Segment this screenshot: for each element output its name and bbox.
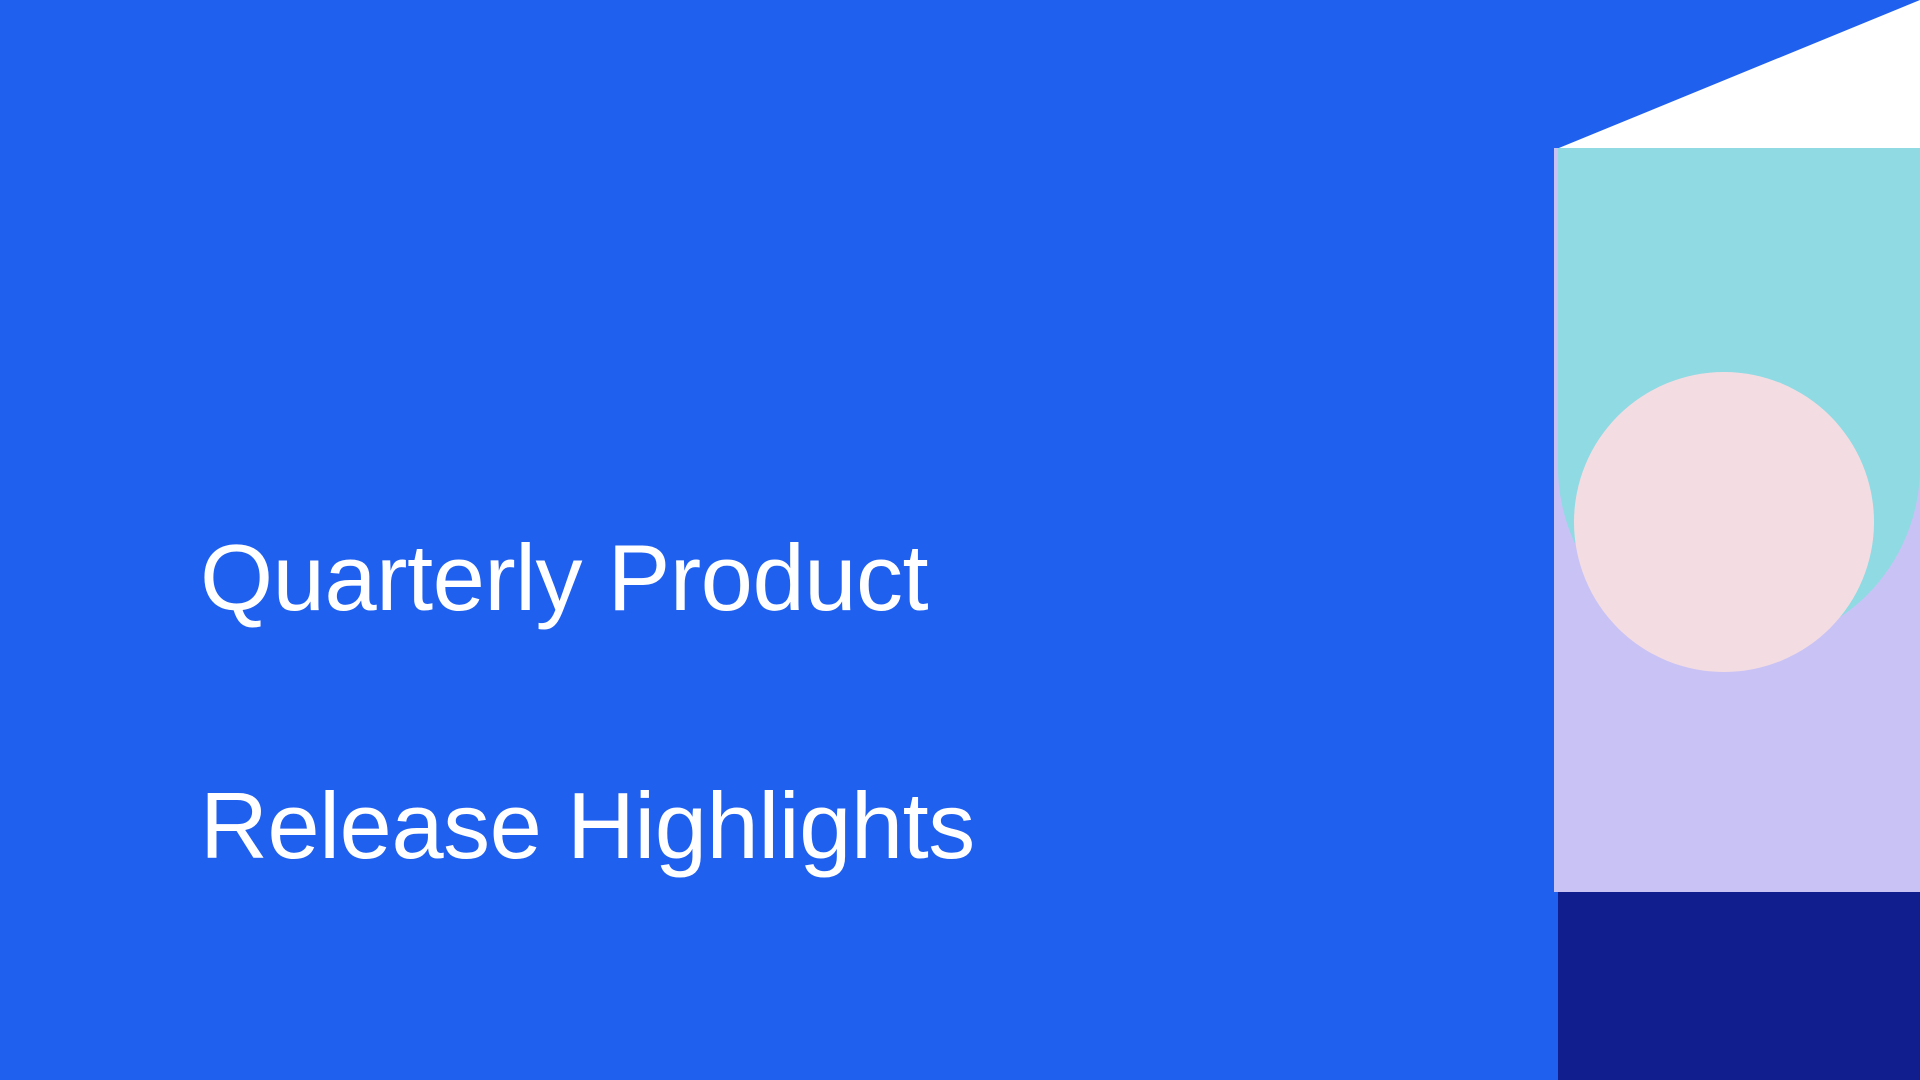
navy-block-shape <box>1558 892 1920 1080</box>
headline-line-2: Release Highlights <box>200 764 1100 888</box>
title-slide: Quarterly Product Release Highlights <box>0 0 1920 1080</box>
decorative-shape-stack <box>1554 0 1920 1080</box>
slide-headline: Quarterly Product Release Highlights <box>200 392 1100 1012</box>
headline-line-1: Quarterly Product <box>200 516 1100 640</box>
blush-circle-shape <box>1574 372 1874 672</box>
